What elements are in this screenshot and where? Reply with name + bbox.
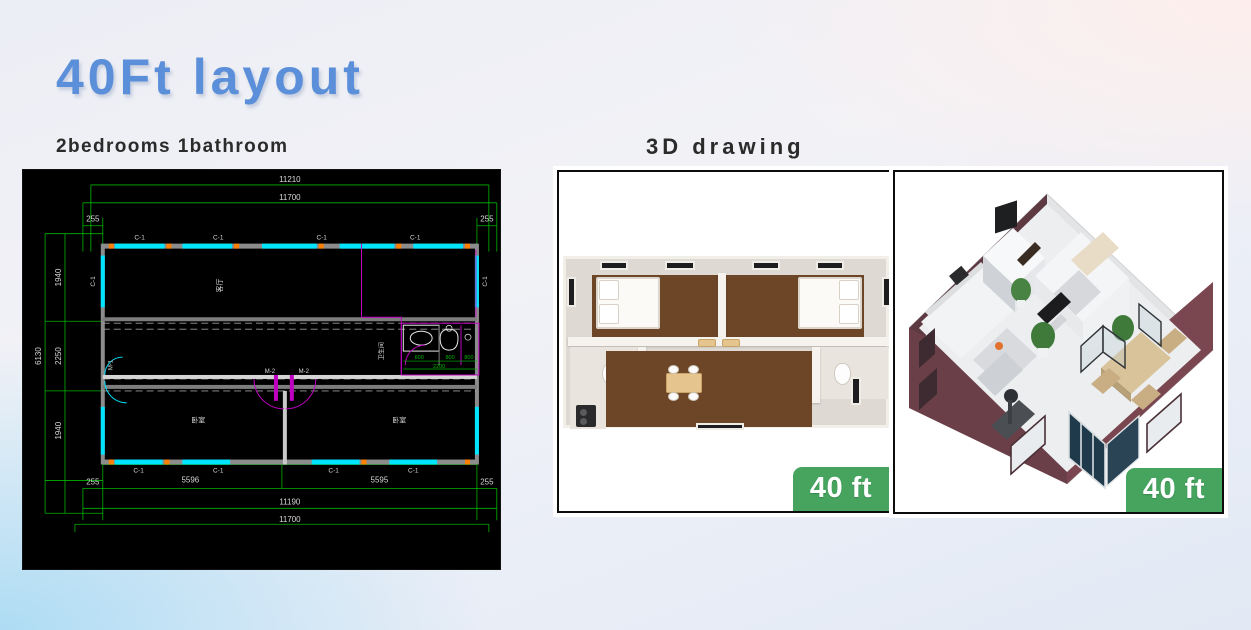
dim-left-1: 1940 <box>54 268 63 286</box>
cad-floor-plan-panel[interactable]: 11210 11700 255 255 255 255 1940 2250 19… <box>22 169 501 570</box>
r1-entry-door <box>696 423 744 430</box>
r1-chair-a <box>668 365 679 374</box>
render-top-down-stage <box>559 172 889 511</box>
iso-plant-a <box>1031 322 1055 350</box>
bath-dim-1: 600 <box>415 355 424 361</box>
window-tag-7: C-1 <box>328 467 339 474</box>
left-section-heading: 2bedrooms 1bathroom <box>56 136 288 158</box>
render-top-down[interactable]: 40 ft <box>557 170 891 513</box>
window-tag-6: C-1 <box>213 467 224 474</box>
room-label-bed-1: 卧室 <box>191 416 205 425</box>
window-tag-3: C-1 <box>316 235 327 242</box>
r1-building-shell <box>563 256 889 428</box>
window-tag-10: C-1 <box>482 276 489 287</box>
bath-dim-2: 800 <box>445 355 454 361</box>
door-tag-3: M-1 <box>109 359 115 370</box>
dim-bottom-3: 11190 <box>279 497 301 506</box>
window-tag-8: C-1 <box>408 467 419 474</box>
window-tag-9: C-1 <box>90 276 97 287</box>
window-tag-4: C-1 <box>410 235 421 242</box>
r1-window-top-left-b <box>665 261 695 270</box>
dim-corner-bl: 255 <box>86 477 100 486</box>
cad-drawing: 11210 11700 255 255 255 255 1940 2250 19… <box>23 170 500 569</box>
cad-background <box>23 170 500 569</box>
dim-corner-tl: 255 <box>86 215 100 224</box>
room-label-bed-2: 卧室 <box>392 416 406 425</box>
bath-dim-3: 800 <box>464 355 473 361</box>
r1-window-side-left <box>567 277 576 307</box>
room-label-bath: 卫生间 <box>377 342 385 360</box>
door-tag-2: M-2 <box>299 369 310 375</box>
dim-corner-br: 255 <box>480 477 494 486</box>
r1-chair-c <box>668 392 679 401</box>
render-1-size-badge: 40 ft <box>793 467 889 511</box>
r1-chair-b <box>688 365 699 374</box>
dim-bottom-4: 11700 <box>279 515 301 524</box>
r1-living-floor <box>606 351 812 427</box>
render-isometric-stage <box>895 172 1222 512</box>
iso-cushion <box>995 342 1003 350</box>
r1-console-b <box>722 339 740 347</box>
r1-bath-wall-right <box>812 347 820 403</box>
render-2-size-badge: 40 ft <box>1126 468 1222 512</box>
r1-burner-a <box>580 409 587 416</box>
r1-pillow-right-a <box>839 280 859 300</box>
bath-dim-4: 2200 <box>433 364 445 370</box>
dim-left-total: 6130 <box>34 347 43 365</box>
r1-toilet-right <box>834 363 851 385</box>
window-tag-5: C-1 <box>133 467 144 474</box>
right-section-heading: 3D drawing <box>646 134 805 160</box>
r1-window-top-left-a <box>600 261 628 270</box>
dim-top-2: 11700 <box>279 193 301 202</box>
room-label-living: 客厅 <box>215 278 224 292</box>
r1-bedroom-partition <box>718 273 726 339</box>
r1-pillow-left-a <box>599 280 619 300</box>
window-tag-2: C-1 <box>213 235 224 242</box>
r1-pillow-left-b <box>599 304 619 324</box>
r1-console-a <box>698 339 716 347</box>
dim-bottom-2: 5595 <box>371 475 389 484</box>
r1-burner-b <box>580 418 587 425</box>
r1-dining-table <box>666 373 702 393</box>
dim-left-2: 2250 <box>54 347 63 365</box>
dim-top-1: 11210 <box>279 175 301 184</box>
r1-pillow-right-b <box>839 304 859 324</box>
page-title: 40Ft layout <box>56 48 364 106</box>
render-isometric[interactable]: 40 ft <box>893 170 1224 514</box>
door-tag-1: M-2 <box>265 369 276 375</box>
r1-window-top-right-a <box>752 261 780 270</box>
dim-bottom-1: 5596 <box>182 475 200 484</box>
dim-corner-tr: 255 <box>480 215 494 224</box>
dim-left-3: 1940 <box>54 421 63 439</box>
r1-window-top-right-b <box>816 261 844 270</box>
r1-window-side-right <box>882 277 891 307</box>
iso-plant-b <box>1011 278 1031 302</box>
r1-window-living-right <box>851 377 861 405</box>
r1-chair-d <box>688 392 699 401</box>
window-tag-1: C-1 <box>134 235 145 242</box>
isometric-illustration <box>895 172 1222 512</box>
